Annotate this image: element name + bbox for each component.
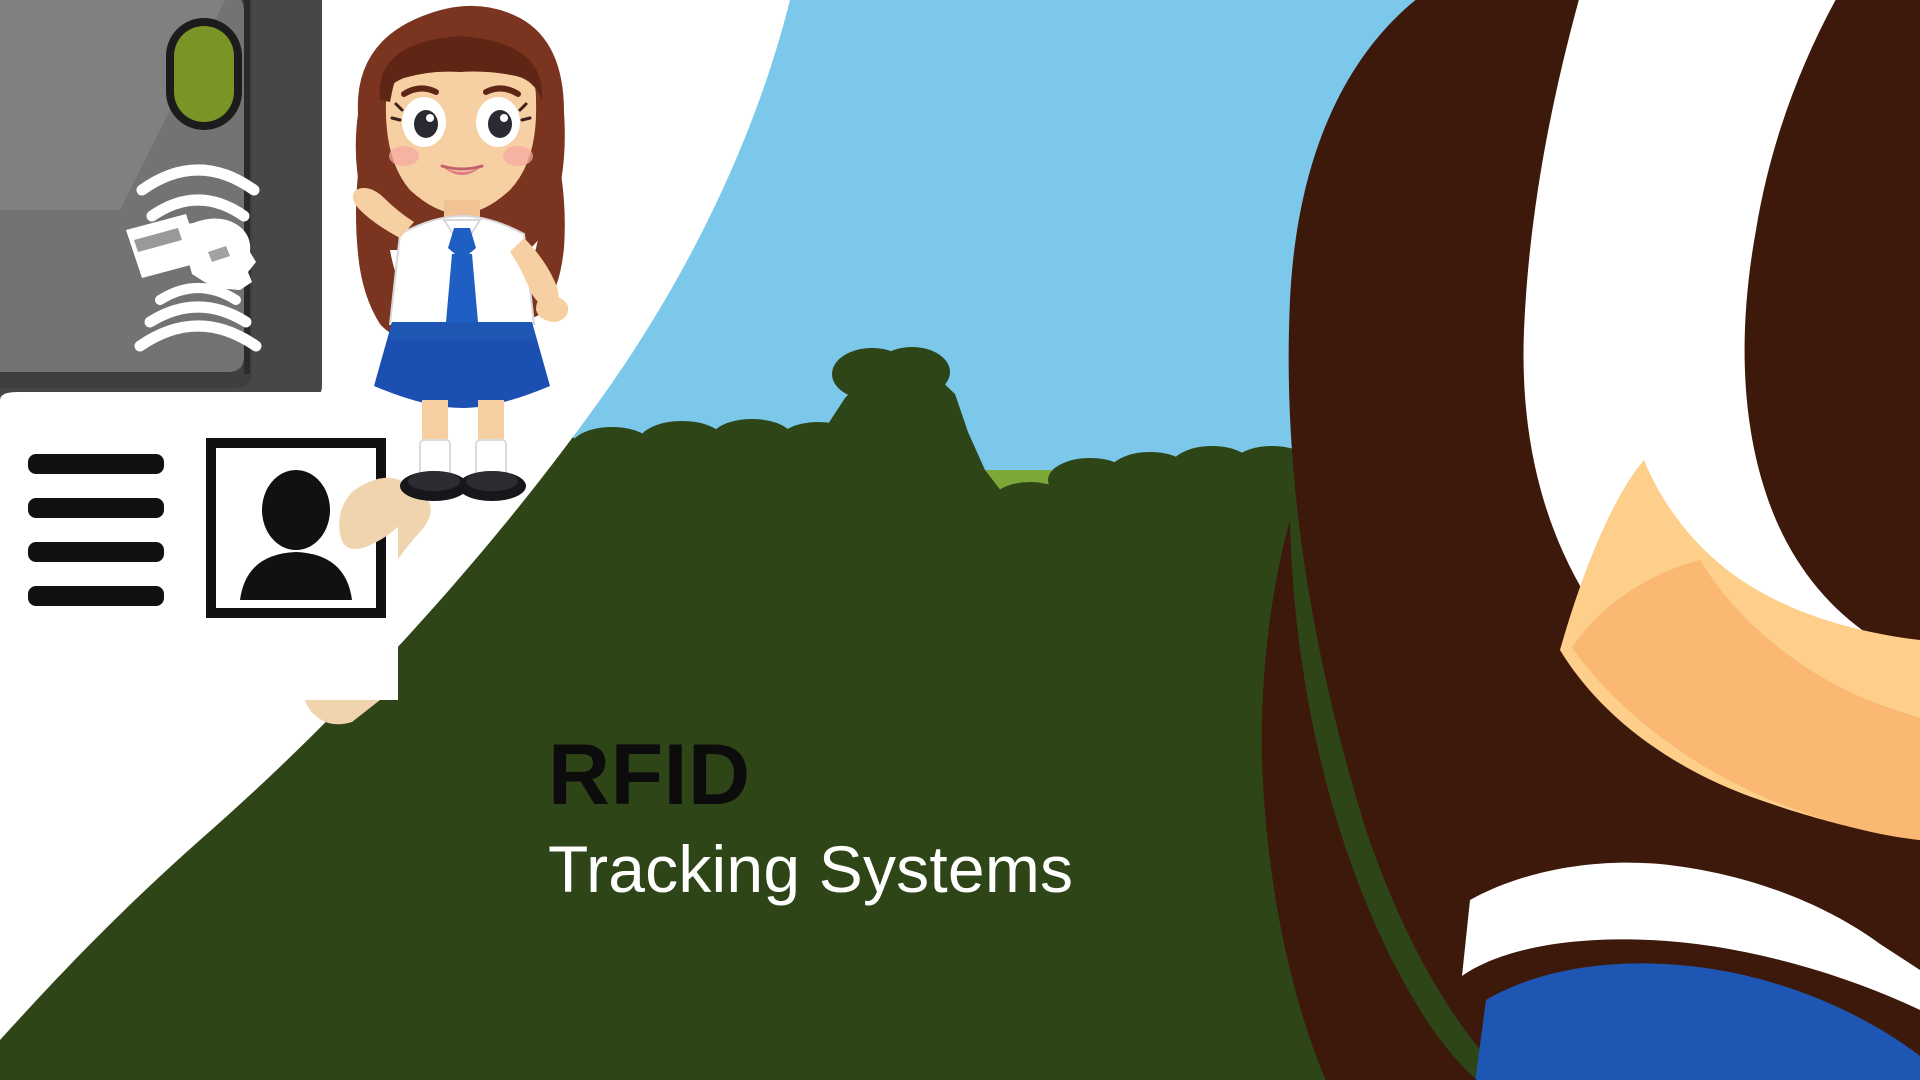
rfid-banner-scene: RFID Tracking Systems: [0, 0, 1920, 1080]
student-closeup-figure: [0, 0, 1920, 1080]
